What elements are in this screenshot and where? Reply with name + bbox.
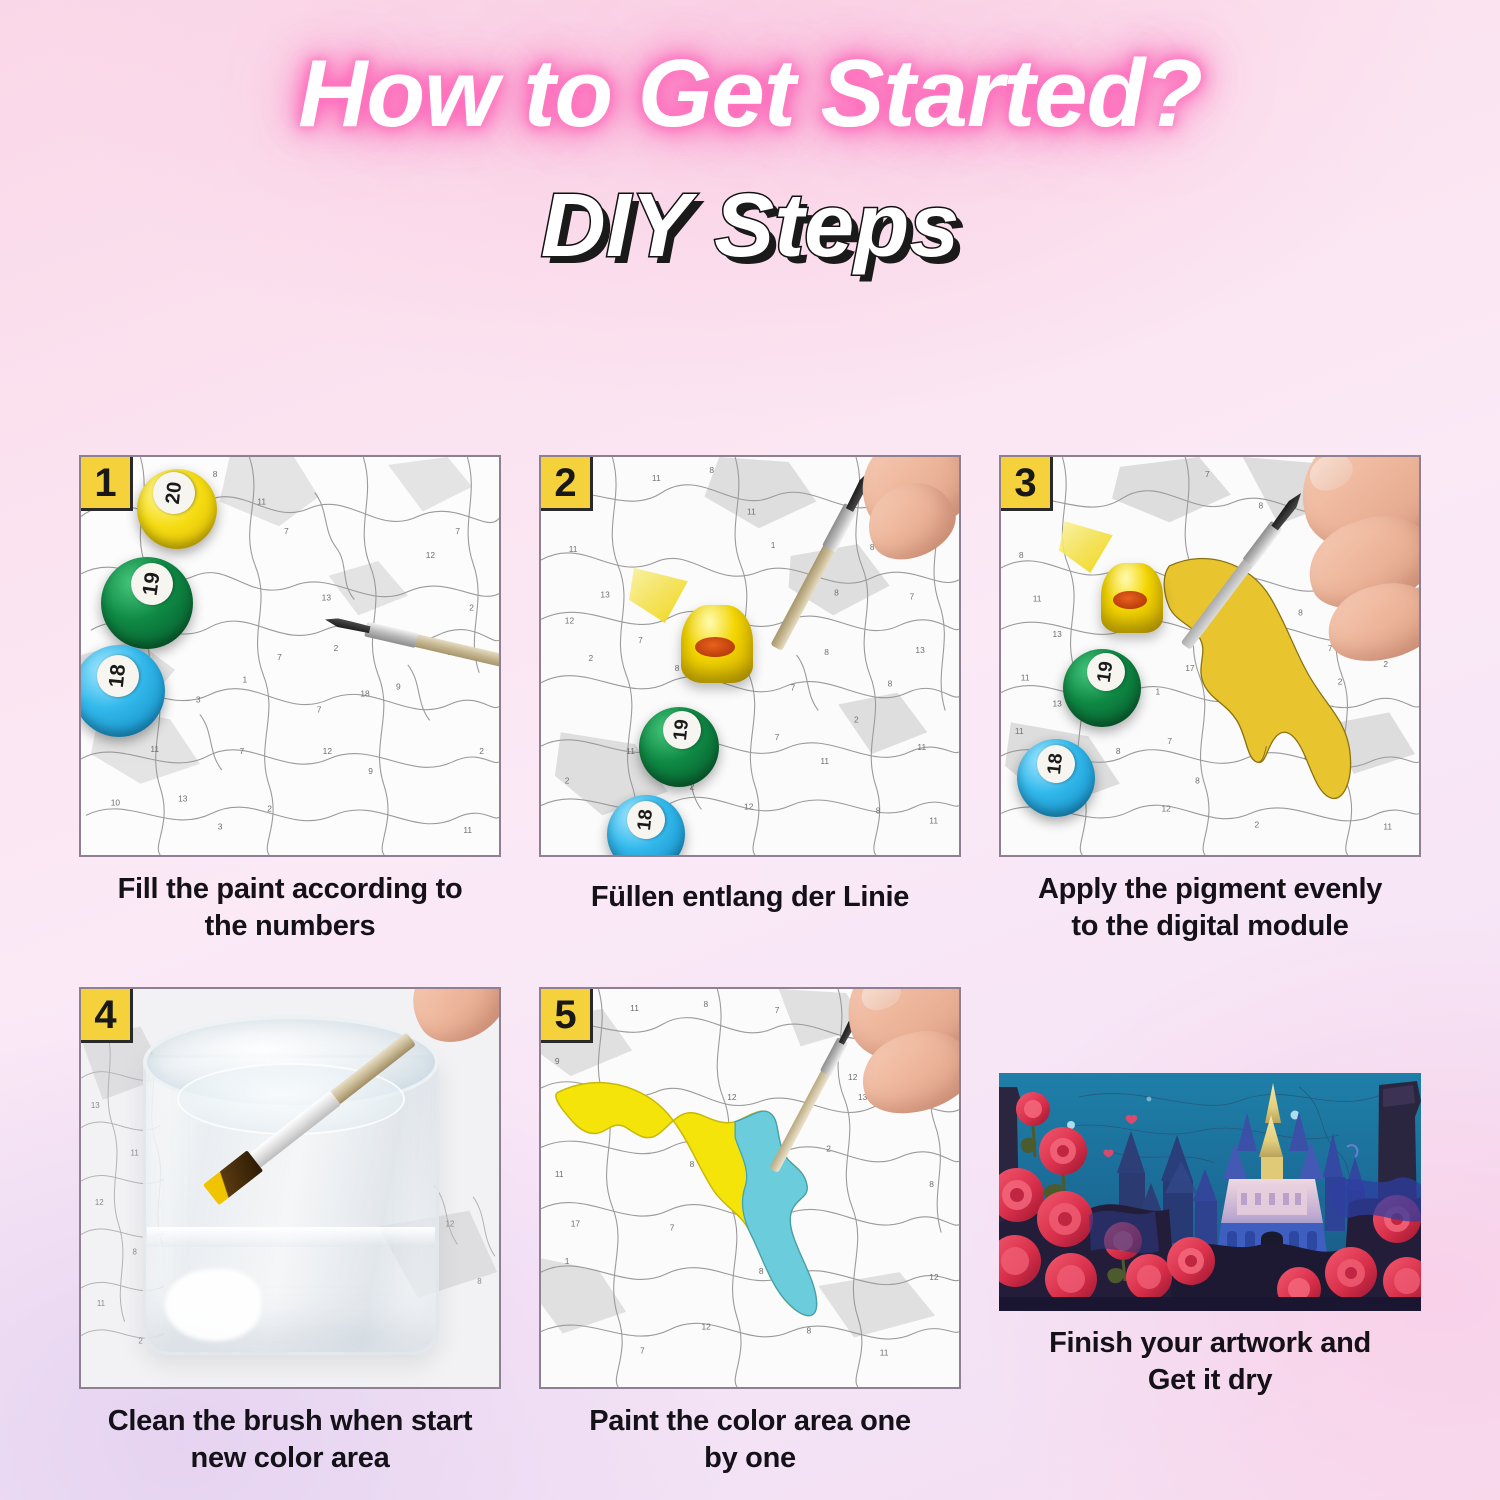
svg-text:2: 2 <box>267 803 272 813</box>
svg-text:1: 1 <box>771 540 776 550</box>
svg-text:11: 11 <box>463 825 472 835</box>
svg-text:8: 8 <box>759 1266 764 1276</box>
finished-artwork-image <box>999 1073 1421 1311</box>
svg-text:1: 1 <box>1156 687 1161 697</box>
caption-line: Apply the pigment evenly <box>995 871 1425 908</box>
svg-text:7: 7 <box>1205 469 1210 479</box>
step-image-3: 3 <box>999 455 1421 857</box>
svg-text:8: 8 <box>213 469 218 479</box>
step-caption-6: Finish your artwork and Get it dry <box>995 1325 1425 1399</box>
step-image-4: 4 <box>79 987 501 1389</box>
svg-text:7: 7 <box>1167 736 1172 746</box>
svg-text:1: 1 <box>565 1256 570 1266</box>
step-badge-2: 2 <box>541 457 593 511</box>
svg-text:12: 12 <box>323 746 333 756</box>
step-caption-1: Fill the paint according to the numbers <box>75 871 505 945</box>
caption-line: Fill the paint according to <box>75 871 505 908</box>
svg-text:9: 9 <box>396 682 401 692</box>
svg-text:9: 9 <box>555 1056 560 1066</box>
step-caption-2: Füllen entlang der Linie <box>535 879 965 916</box>
svg-text:11: 11 <box>1021 673 1030 683</box>
svg-text:7: 7 <box>638 635 643 645</box>
svg-text:7: 7 <box>284 526 289 536</box>
svg-text:13: 13 <box>322 593 332 603</box>
svg-text:1: 1 <box>242 675 247 685</box>
step-caption-3: Apply the pigment evenly to the digital … <box>995 871 1425 945</box>
svg-text:7: 7 <box>317 704 322 714</box>
caption-line: to the digital module <box>995 908 1425 945</box>
svg-text:13: 13 <box>178 794 188 804</box>
caption-line: the numbers <box>75 908 505 945</box>
svg-text:7: 7 <box>640 1346 645 1356</box>
svg-text:18: 18 <box>360 689 370 699</box>
svg-text:2: 2 <box>469 602 474 612</box>
water-level <box>147 1227 435 1247</box>
svg-text:11: 11 <box>747 506 756 516</box>
paint-pot-yellow-open <box>681 605 753 683</box>
svg-text:2: 2 <box>334 643 339 653</box>
svg-text:17: 17 <box>1185 663 1195 673</box>
svg-text:13: 13 <box>1053 629 1063 639</box>
paint-pot-yellow-open <box>1101 563 1163 633</box>
paint-pot-18: 18 <box>1017 739 1095 817</box>
svg-text:12: 12 <box>565 615 575 625</box>
svg-text:12: 12 <box>426 550 436 560</box>
svg-text:11: 11 <box>820 756 829 766</box>
svg-text:8: 8 <box>806 1326 811 1336</box>
page-header: How to Get Started? DIY Steps <box>0 0 1500 271</box>
svg-text:7: 7 <box>775 732 780 742</box>
step-cell-1: 1 <box>60 455 520 945</box>
page-title: How to Get Started? <box>0 44 1500 145</box>
svg-text:8: 8 <box>1195 776 1200 786</box>
svg-text:7: 7 <box>455 526 460 536</box>
svg-text:12: 12 <box>1161 803 1171 813</box>
svg-text:11: 11 <box>1383 821 1392 831</box>
caption-line: Füllen entlang der Linie <box>535 879 965 916</box>
step-image-5: 5 <box>539 987 961 1389</box>
svg-text:11: 11 <box>1015 726 1024 736</box>
svg-text:12: 12 <box>701 1322 711 1332</box>
svg-text:2: 2 <box>854 714 859 724</box>
step-cell-6: Finish your artwork and Get it dry <box>980 987 1440 1477</box>
svg-text:7: 7 <box>775 1005 780 1015</box>
caption-line: by one <box>535 1440 965 1477</box>
caption-line: Paint the color area one <box>535 1403 965 1440</box>
step-caption-5: Paint the color area one by one <box>535 1403 965 1477</box>
paint-pot-19: 19 <box>1063 649 1141 727</box>
svg-text:3: 3 <box>196 695 201 705</box>
svg-text:7: 7 <box>909 592 914 602</box>
svg-text:7: 7 <box>239 746 244 756</box>
svg-text:8: 8 <box>690 1159 695 1169</box>
svg-text:11: 11 <box>257 497 266 507</box>
svg-text:7: 7 <box>670 1223 675 1233</box>
svg-text:12: 12 <box>848 1072 858 1082</box>
step-cell-4: 4 <box>60 987 520 1477</box>
svg-text:11: 11 <box>652 473 661 483</box>
svg-text:17: 17 <box>571 1219 581 1229</box>
svg-text:13: 13 <box>1053 698 1063 708</box>
svg-text:2: 2 <box>1338 677 1343 687</box>
step-cell-2: 2 <box>520 455 980 945</box>
svg-text:8: 8 <box>1116 746 1121 756</box>
paint-pot-19: 19 <box>639 707 719 787</box>
svg-text:3: 3 <box>218 821 223 831</box>
step-badge-3: 3 <box>1001 457 1053 511</box>
caption-line: new color area <box>75 1440 505 1477</box>
svg-text:11: 11 <box>929 815 938 825</box>
svg-text:11: 11 <box>150 744 159 754</box>
svg-text:13: 13 <box>600 590 610 600</box>
steps-grid: 1 <box>0 455 1500 1477</box>
step-cell-5: 5 <box>520 987 980 1477</box>
caption-line: Clean the brush when start <box>75 1403 505 1440</box>
svg-text:13: 13 <box>915 645 925 655</box>
svg-text:2: 2 <box>1383 659 1388 669</box>
paint-pot-19: 19 <box>101 557 193 649</box>
step-badge-5: 5 <box>541 989 593 1043</box>
step-caption-4: Clean the brush when start new color are… <box>75 1403 505 1477</box>
svg-text:8: 8 <box>1019 550 1024 560</box>
svg-text:7: 7 <box>791 683 796 693</box>
step-cell-3: 3 <box>980 455 1440 945</box>
svg-text:8: 8 <box>929 1179 934 1189</box>
svg-text:9: 9 <box>368 766 373 776</box>
caption-line: Get it dry <box>995 1362 1425 1399</box>
svg-text:8: 8 <box>1298 607 1303 617</box>
svg-text:10: 10 <box>111 797 121 807</box>
svg-text:2: 2 <box>479 746 484 756</box>
svg-text:11: 11 <box>630 1003 639 1013</box>
svg-text:2: 2 <box>589 653 594 663</box>
svg-text:8: 8 <box>834 588 839 598</box>
svg-text:8: 8 <box>709 465 714 475</box>
svg-text:12: 12 <box>727 1092 737 1102</box>
water-glass <box>81 989 499 1387</box>
glass-highlight <box>165 1269 261 1341</box>
svg-text:11: 11 <box>917 742 926 752</box>
svg-text:2: 2 <box>1255 819 1260 829</box>
castle-artwork <box>999 1073 1421 1311</box>
svg-text:11: 11 <box>1033 594 1042 604</box>
svg-text:8: 8 <box>824 647 829 657</box>
svg-text:8: 8 <box>876 805 881 815</box>
svg-text:12: 12 <box>929 1272 939 1282</box>
caption-line: Finish your artwork and <box>995 1325 1425 1362</box>
paint-pot-20: 20 <box>137 469 217 549</box>
svg-text:8: 8 <box>675 663 680 673</box>
svg-text:11: 11 <box>880 1348 889 1358</box>
step-badge-4: 4 <box>81 989 133 1043</box>
svg-text:8: 8 <box>888 679 893 689</box>
svg-text:12: 12 <box>744 801 754 811</box>
svg-text:2: 2 <box>826 1144 831 1154</box>
step-image-1: 1 <box>79 455 501 857</box>
svg-text:11: 11 <box>569 544 578 554</box>
svg-text:7: 7 <box>277 652 282 662</box>
svg-text:11: 11 <box>626 746 635 756</box>
svg-text:11: 11 <box>555 1169 564 1179</box>
svg-text:8: 8 <box>1259 500 1264 510</box>
page-subtitle: DIY Steps <box>0 181 1500 271</box>
step-badge-1: 1 <box>81 457 133 511</box>
svg-text:8: 8 <box>703 999 708 1009</box>
step-image-2: 2 <box>539 455 961 857</box>
svg-text:2: 2 <box>565 776 570 786</box>
